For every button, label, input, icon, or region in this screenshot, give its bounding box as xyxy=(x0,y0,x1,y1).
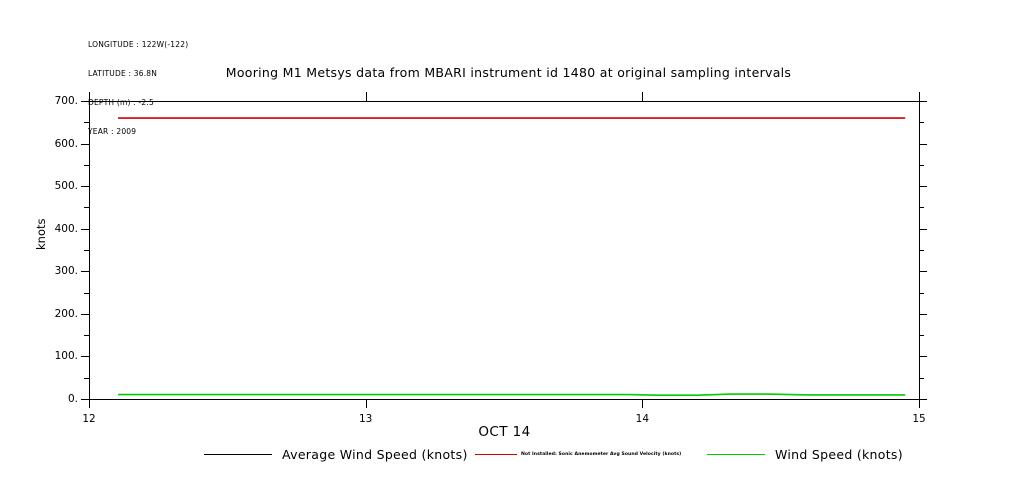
x-tick-top-14 xyxy=(642,92,643,101)
y-tick-200 xyxy=(81,314,89,315)
axis-bottom xyxy=(89,399,919,400)
y-tick-right-0 xyxy=(919,399,927,400)
x-tick-12 xyxy=(89,399,90,408)
legend-item[interactable]: Average Wind Speed (knots) xyxy=(204,443,468,465)
chart-legend: Average Wind Speed (knots)Not Installed:… xyxy=(0,443,1009,465)
y-tick-minor-right-150 xyxy=(919,335,924,336)
y-tick-right-500 xyxy=(919,186,927,187)
plot-area: 0.100.200.300.400.500.600.700. 12131415 xyxy=(89,101,919,399)
y-tick-label-500: 500. xyxy=(55,180,78,192)
x-tick-15 xyxy=(919,399,920,408)
y-tick-0 xyxy=(81,399,89,400)
legend-line-swatch xyxy=(204,454,272,455)
y-tick-minor-right-650 xyxy=(919,122,924,123)
y-tick-300 xyxy=(81,271,89,272)
chart-page: LONGITUDE : 122W(-122) LATITUDE : 36.8N … xyxy=(0,0,1009,504)
y-tick-right-600 xyxy=(919,144,927,145)
x-tick-top-15 xyxy=(919,92,920,101)
chart-title-text: Mooring M1 Metsys data from MBARI instru… xyxy=(226,65,792,80)
y-tick-minor-right-450 xyxy=(919,207,924,208)
y-tick-right-200 xyxy=(919,314,927,315)
y-tick-right-300 xyxy=(919,271,927,272)
series-line xyxy=(118,394,905,395)
x-tick-13 xyxy=(366,399,367,408)
x-tick-14 xyxy=(642,399,643,408)
y-axis-title: knots xyxy=(34,219,48,251)
x-tick-top-13 xyxy=(366,92,367,101)
y-tick-label-200: 200. xyxy=(55,308,78,320)
y-tick-400 xyxy=(81,229,89,230)
series-svg xyxy=(89,101,919,399)
legend-line-swatch xyxy=(707,454,765,455)
legend-label: Wind Speed (knots) xyxy=(775,447,903,462)
y-tick-label-100: 100. xyxy=(55,350,78,362)
data-series-layer xyxy=(89,101,919,399)
y-tick-right-400 xyxy=(919,229,927,230)
y-tick-right-100 xyxy=(919,356,927,357)
legend-label: Not Installed: Sonic Anemometer Avg Soun… xyxy=(521,452,681,457)
y-tick-minor-right-250 xyxy=(919,293,924,294)
x-axis-title-text: OCT 14 xyxy=(478,424,530,440)
y-tick-500 xyxy=(81,186,89,187)
legend-item[interactable]: Not Installed: Sonic Anemometer Avg Soun… xyxy=(475,443,681,465)
y-tick-label-700: 700. xyxy=(55,95,78,107)
y-tick-label-400: 400. xyxy=(55,223,78,235)
y-tick-100 xyxy=(81,356,89,357)
legend-label: Average Wind Speed (knots) xyxy=(282,447,468,462)
chart-title: Mooring M1 Metsys data from MBARI instru… xyxy=(0,65,1009,80)
legend-line-swatch xyxy=(475,454,517,455)
y-tick-700 xyxy=(81,101,89,102)
legend-item[interactable]: Wind Speed (knots) xyxy=(707,443,903,465)
y-tick-label-0: 0. xyxy=(68,393,78,405)
x-tick-top-12 xyxy=(89,92,90,101)
y-tick-label-600: 600. xyxy=(55,138,78,150)
metadata-longitude: LONGITUDE : 122W(-122) xyxy=(88,40,188,50)
y-tick-minor-right-50 xyxy=(919,378,924,379)
y-tick-label-300: 300. xyxy=(55,265,78,277)
y-tick-minor-right-550 xyxy=(919,165,924,166)
x-axis-title: OCT 14 xyxy=(0,424,1009,440)
y-tick-right-700 xyxy=(919,101,927,102)
y-tick-600 xyxy=(81,144,89,145)
y-tick-minor-right-350 xyxy=(919,250,924,251)
